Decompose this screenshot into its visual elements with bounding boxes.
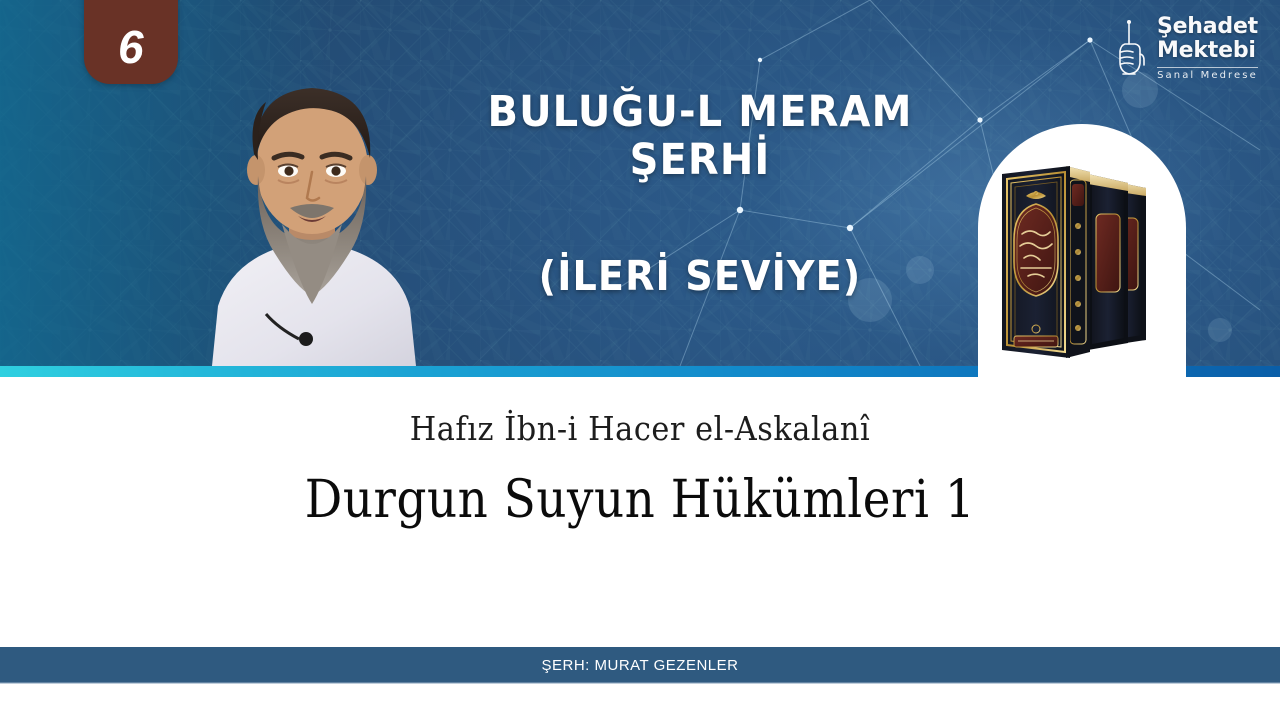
author-name: Hafız İbn-i Hacer el-Askalanî (51, 409, 1229, 448)
episode-number: 6 (118, 24, 144, 70)
lesson-title: Durgun Suyun Hükümleri 1 (64, 470, 1216, 530)
series-title-line1: BULUĞU-L MERAM (449, 88, 951, 136)
brand-tagline: Sanal Medrese (1157, 67, 1258, 81)
series-title: BULUĞU-L MERAM ŞERHİ (449, 88, 951, 184)
episode-number-badge: 6 (84, 0, 178, 84)
series-level: (İLERİ SEVİYE) (449, 252, 951, 300)
pointing-hand-icon (1109, 18, 1149, 80)
divider-book-cutout (978, 366, 1186, 377)
brand-line1: Şehadet (1157, 16, 1258, 38)
content-area: Hafız İbn-i Hacer el-Askalanî Durgun Suy… (0, 377, 1280, 647)
series-title-line2: ŞERHİ (449, 136, 951, 184)
footer-edge-line (0, 682, 1280, 684)
speaker-portrait (186, 56, 436, 366)
banner: 6 (0, 0, 1280, 366)
footer-credit: ŞERH: MURAT GEZENLER (542, 657, 739, 674)
title-block: BULUĞU-L MERAM ŞERHİ (İLERİ SEVİYE) (430, 88, 970, 300)
book-volumes-cover (994, 140, 1170, 366)
brand-text: Şehadet Mektebi Sanal Medrese (1157, 16, 1258, 81)
brand-logo: Şehadet Mektebi Sanal Medrese (1109, 16, 1258, 81)
lecture-title-slide: 6 (0, 0, 1280, 720)
brand-line2: Mektebi (1157, 40, 1258, 62)
footer-bar: ŞERH: MURAT GEZENLER (0, 647, 1280, 683)
